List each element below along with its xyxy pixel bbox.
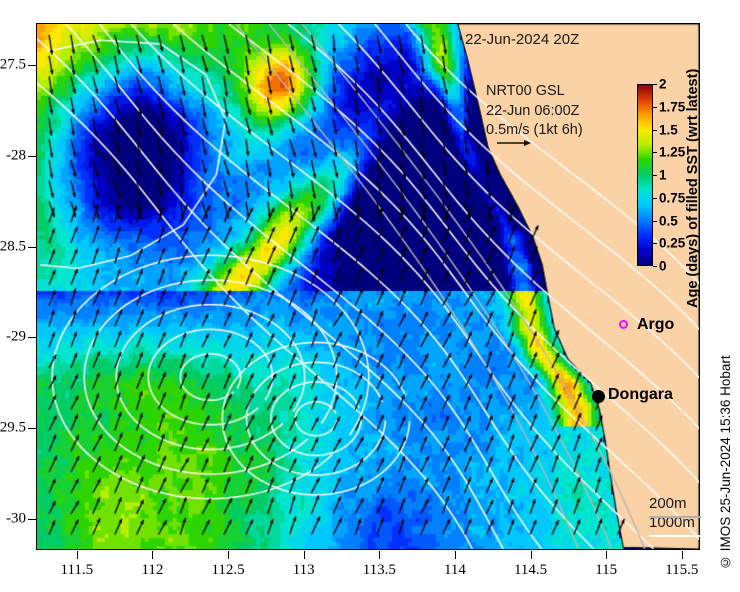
x-axis-tick — [152, 551, 153, 559]
y-axis-tick-label: -29 — [6, 329, 26, 346]
colorbar-tick — [653, 152, 657, 153]
x-axis-tick-label: 115.5 — [665, 562, 698, 579]
y-axis-tick — [28, 65, 36, 66]
x-axis-tick-label: 114 — [444, 562, 466, 579]
colorbar-tick — [653, 175, 657, 176]
right-arrow-icon — [497, 138, 531, 148]
colorbar-tick-label: 1 — [659, 168, 667, 183]
colorbar-tick-label: 2 — [659, 77, 667, 92]
x-axis-tick — [304, 551, 305, 559]
colorbar-tick-label: 0.5 — [659, 213, 678, 228]
x-axis-tick — [379, 551, 380, 559]
y-axis-tick — [28, 519, 36, 520]
colorbar — [637, 84, 653, 266]
colorbar-tick-label: 1.5 — [659, 122, 678, 137]
depth-key-200m: 200m — [649, 494, 695, 513]
argo-open-circle-icon — [619, 320, 628, 329]
x-axis-tick — [77, 551, 78, 559]
velocity-timestamp: 22-Jun 06:00Z — [486, 102, 583, 122]
y-axis-tick — [28, 337, 36, 338]
argo-legend-label: Argo — [637, 316, 674, 334]
dongara-city-label: Dongara — [608, 386, 673, 404]
colorbar-tick — [653, 198, 657, 199]
sst-age-map-figure: 22-Jun-2024 20Z NRT00 GSL 22-Jun 06:00Z … — [0, 0, 740, 592]
x-axis-tick-label: 115 — [595, 562, 617, 579]
colorbar-title: Age (days) of filled SST (wrt latest) — [681, 78, 705, 298]
y-axis-tick — [28, 428, 36, 429]
depth-key-200m-line-sample — [649, 516, 701, 518]
velocity-product: NRT00 GSL — [486, 82, 583, 102]
x-axis-tick — [682, 551, 683, 559]
colorbar-tick — [653, 130, 657, 131]
y-axis-tick-label: -27.5 — [0, 56, 26, 73]
y-axis-tick — [28, 247, 36, 248]
colorbar-tick — [653, 243, 657, 244]
x-axis-tick-label: 113 — [293, 562, 315, 579]
x-axis-tick-label: 112.5 — [211, 562, 244, 579]
x-axis-tick — [531, 551, 532, 559]
y-axis-tick-label: -29.5 — [0, 420, 26, 437]
x-axis-tick-label: 113.5 — [363, 562, 396, 579]
y-axis-tick-label: -28.5 — [0, 238, 26, 255]
y-axis-tick — [28, 156, 36, 157]
depth-contour-key: 200m 1000m — [649, 494, 695, 532]
colorbar-tick — [653, 84, 657, 85]
x-axis-tick — [228, 551, 229, 559]
map-plot-area[interactable] — [36, 23, 700, 550]
colorbar-tick-label: 0 — [659, 259, 667, 274]
depth-key-1000m-line-sample — [649, 535, 701, 537]
copyright-notice: © IMOS 25-Jun-2024 15:36 Hobart — [718, 330, 738, 570]
colorbar-gradient — [638, 85, 652, 265]
y-axis-tick-label: -28 — [6, 147, 26, 164]
colorbar-tick — [653, 221, 657, 222]
x-axis-tick-label: 112 — [141, 562, 163, 579]
x-axis-tick-label: 114.5 — [514, 562, 547, 579]
dongara-filled-circle-icon — [592, 390, 605, 403]
sst-age-raster — [37, 24, 699, 549]
date-stamp: 22-Jun-2024 20Z — [465, 31, 579, 48]
colorbar-tick — [653, 266, 657, 267]
velocity-legend: NRT00 GSL 22-Jun 06:00Z 0.5m/s (1kt 6h) — [486, 82, 583, 141]
colorbar-tick — [653, 107, 657, 108]
x-axis-tick — [455, 551, 456, 559]
x-axis-tick-label: 111.5 — [61, 562, 94, 579]
y-axis-tick-label: -30 — [6, 511, 26, 528]
x-axis-tick — [606, 551, 607, 559]
